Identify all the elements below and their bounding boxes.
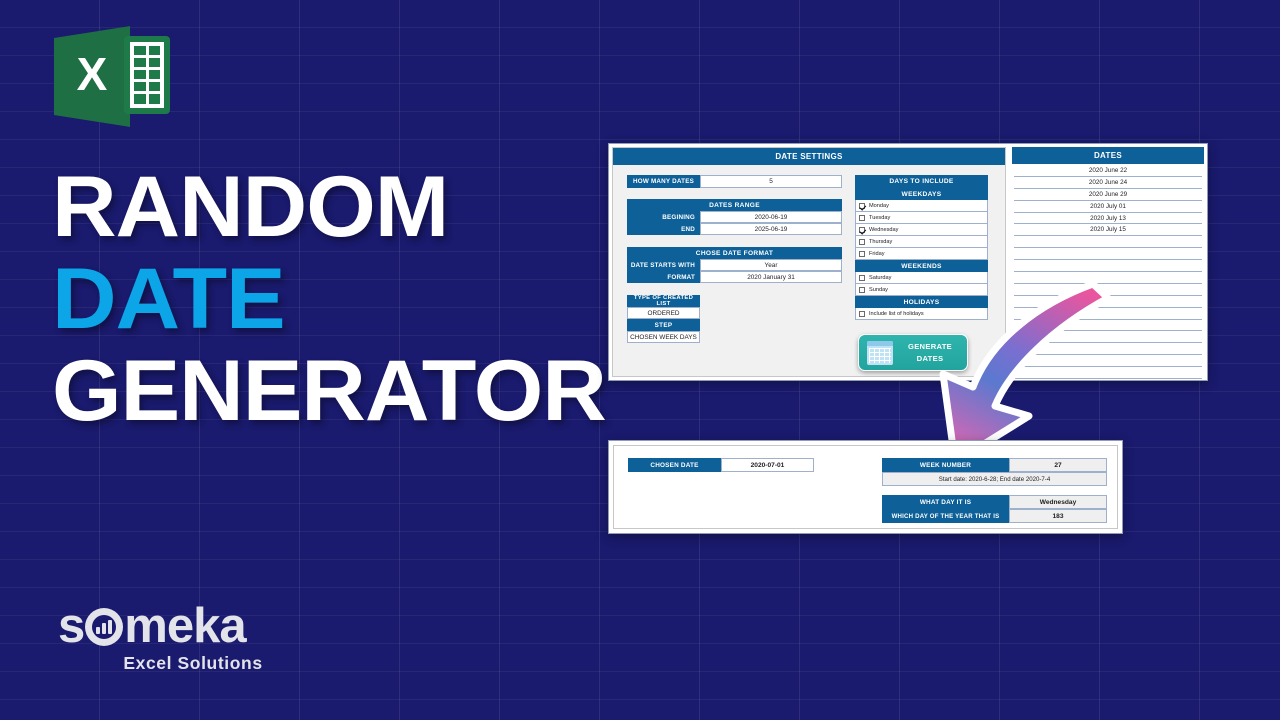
generate-dates-button[interactable]: GENERATE DATES (858, 334, 968, 371)
dates-list: 2020 June 222020 June 242020 June 292020… (1014, 165, 1202, 379)
date-list-empty-row (1014, 296, 1202, 308)
checkbox-row-tuesday[interactable]: Tuesday (855, 212, 988, 224)
weekend-checkbox-list: Saturday Sunday (855, 272, 988, 296)
checkbox-row-sunday[interactable]: Sunday (855, 284, 988, 296)
details-pane: CHOSEN DATE 2020-07-01 WEEK NUMBER 27 St… (613, 445, 1118, 529)
date-list-empty-row (1014, 320, 1202, 332)
date-starts-with-row: DATE STARTS WITH Year (627, 259, 842, 271)
checkbox-holidays[interactable] (859, 311, 865, 317)
headline-line-1: RANDOM (52, 168, 634, 248)
list-type-value[interactable]: ORDERED (627, 307, 700, 319)
checkbox-row-holidays[interactable]: Include list of holidays (855, 308, 988, 320)
begin-label: BEGINING (627, 211, 700, 223)
someka-letter-s: s (58, 602, 84, 651)
headline-line-2: DATE (52, 260, 634, 340)
week-number-row: WEEK NUMBER 27 (882, 458, 1107, 472)
checkbox-friday[interactable] (859, 251, 865, 257)
end-value[interactable]: 2025-06-19 (700, 223, 842, 235)
date-list-item: 2020 June 29 (1014, 189, 1202, 201)
settings-pane: DATE SETTINGS HOW MANY DATES 5 DATES RAN… (612, 147, 1006, 377)
step-label: STEP (627, 319, 700, 331)
chosen-date-row: CHOSEN DATE 2020-07-01 (628, 458, 814, 472)
checkbox-wednesday[interactable] (859, 227, 865, 233)
checkbox-label-wednesday: Wednesday (869, 227, 898, 233)
format-row: FORMAT 2020 January 31 (627, 271, 842, 283)
chosen-date-value[interactable]: 2020-07-01 (721, 458, 814, 472)
chosen-date-label: CHOSEN DATE (628, 458, 721, 472)
day-of-year-value: 183 (1009, 509, 1107, 523)
week-number-block: WEEK NUMBER 27 Start date: 2020-6-28; En… (882, 458, 1107, 486)
weekdays-title: WEEKDAYS (855, 188, 988, 200)
svg-text:X: X (77, 48, 108, 100)
date-details-sheet: CHOSEN DATE 2020-07-01 WEEK NUMBER 27 St… (608, 440, 1123, 534)
date-list-item: 2020 July 01 (1014, 201, 1202, 213)
checkbox-row-monday[interactable]: Monday (855, 200, 988, 212)
dates-range-begin-row: BEGINING 2020-06-19 (627, 211, 842, 223)
generate-label-line1: GENERATE (908, 342, 952, 351)
dates-title: DATES (1012, 147, 1204, 164)
holidays-title: HOLIDAYS (855, 296, 988, 308)
list-type-block: TYPE OF CREATED LIST ORDERED STEP CHOSEN… (627, 295, 700, 343)
date-format-title: CHOSE DATE FORMAT (627, 247, 842, 259)
excel-icon: X (50, 24, 175, 129)
date-list-empty-row (1014, 260, 1202, 272)
checkbox-tuesday[interactable] (859, 215, 865, 221)
date-list-item: 2020 June 22 (1014, 165, 1202, 177)
checkbox-label-thursday: Thursday (869, 239, 892, 245)
how-many-dates-row: HOW MANY DATES 5 (627, 175, 842, 188)
week-number-label: WEEK NUMBER (882, 458, 1009, 472)
weekends-title: WEEKENDS (855, 260, 988, 272)
days-to-include-title: DAYS TO INCLUDE (855, 175, 988, 188)
generate-dates-label: GENERATE DATES (893, 341, 967, 364)
date-starts-with-value[interactable]: Year (700, 259, 842, 271)
date-list-empty-row (1014, 355, 1202, 367)
checkbox-thursday[interactable] (859, 239, 865, 245)
checkbox-label-tuesday: Tuesday (869, 215, 890, 221)
headline-line-3: GENERATOR (52, 352, 634, 432)
day-info-block: WHAT DAY IT IS Wednesday WHICH DAY OF TH… (882, 495, 1107, 523)
day-of-year-row: WHICH DAY OF THE YEAR THAT IS 183 (882, 509, 1107, 523)
what-day-value: Wednesday (1009, 495, 1107, 509)
someka-logo: s meka Excel Solutions (58, 602, 308, 674)
checkbox-row-thursday[interactable]: Thursday (855, 236, 988, 248)
bar-chart-icon (85, 608, 123, 646)
page-title: RANDOM DATE GENERATOR (52, 168, 612, 444)
what-day-row: WHAT DAY IT IS Wednesday (882, 495, 1107, 509)
checkbox-row-wednesday[interactable]: Wednesday (855, 224, 988, 236)
date-list-empty-row (1014, 331, 1202, 343)
date-list-empty-row (1014, 284, 1202, 296)
dates-pane: DATES 2020 June 222020 June 242020 June … (1012, 147, 1204, 377)
end-label: END (627, 223, 700, 235)
how-many-dates-label: HOW MANY DATES (627, 175, 700, 188)
date-list-empty-row (1014, 367, 1202, 379)
date-list-item: 2020 July 13 (1014, 213, 1202, 225)
checkbox-monday[interactable] (859, 203, 865, 209)
checkbox-label-sunday: Sunday (869, 287, 888, 293)
dates-range-title: DATES RANGE (627, 199, 842, 211)
week-range-note: Start date: 2020-6-28; End date 2020-7-4 (882, 472, 1107, 486)
date-list-item: 2020 July 15 (1014, 224, 1202, 236)
someka-letters-meka: meka (124, 602, 245, 651)
generate-label-line2: DATES (917, 354, 944, 363)
date-list-empty-row (1014, 308, 1202, 320)
checkbox-saturday[interactable] (859, 275, 865, 281)
weekday-checkbox-list: Monday Tuesday Wednesday Thursday Friday (855, 200, 988, 260)
date-list-empty-row (1014, 248, 1202, 260)
days-to-include-block: DAYS TO INCLUDE WEEKDAYS Monday Tuesday … (855, 175, 988, 320)
checkbox-label-monday: Monday (869, 203, 889, 209)
date-settings-title: DATE SETTINGS (613, 148, 1005, 165)
someka-wordmark: s meka (58, 602, 308, 651)
format-value[interactable]: 2020 January 31 (700, 271, 842, 283)
date-starts-with-label: DATE STARTS WITH (627, 259, 700, 271)
calendar-icon (867, 341, 893, 365)
date-format-block: CHOSE DATE FORMAT DATE STARTS WITH Year … (627, 247, 842, 283)
dates-range-block: DATES RANGE BEGINING 2020-06-19 END 2025… (627, 199, 842, 235)
week-number-value: 27 (1009, 458, 1107, 472)
date-list-item: 2020 June 24 (1014, 177, 1202, 189)
checkbox-label-saturday: Saturday (869, 275, 891, 281)
date-list-empty-row (1014, 272, 1202, 284)
checkbox-row-friday[interactable]: Friday (855, 248, 988, 260)
day-of-year-label: WHICH DAY OF THE YEAR THAT IS (882, 509, 1009, 523)
format-label: FORMAT (627, 271, 700, 283)
step-value[interactable]: CHOSEN WEEK DAYS (627, 331, 700, 343)
dates-range-end-row: END 2025-06-19 (627, 223, 842, 235)
list-type-title: TYPE OF CREATED LIST (627, 295, 700, 307)
checkbox-label-friday: Friday (869, 251, 885, 257)
date-list-empty-row (1014, 236, 1202, 248)
someka-tagline: Excel Solutions (58, 653, 308, 674)
checkbox-sunday[interactable] (859, 287, 865, 293)
what-day-label: WHAT DAY IT IS (882, 495, 1009, 509)
checkbox-label-holidays: Include list of holidays (869, 311, 924, 317)
begin-value[interactable]: 2020-06-19 (700, 211, 842, 223)
date-settings-sheet: DATE SETTINGS HOW MANY DATES 5 DATES RAN… (608, 143, 1208, 381)
how-many-dates-value[interactable]: 5 (700, 175, 842, 188)
date-list-empty-row (1014, 343, 1202, 355)
checkbox-row-saturday[interactable]: Saturday (855, 272, 988, 284)
